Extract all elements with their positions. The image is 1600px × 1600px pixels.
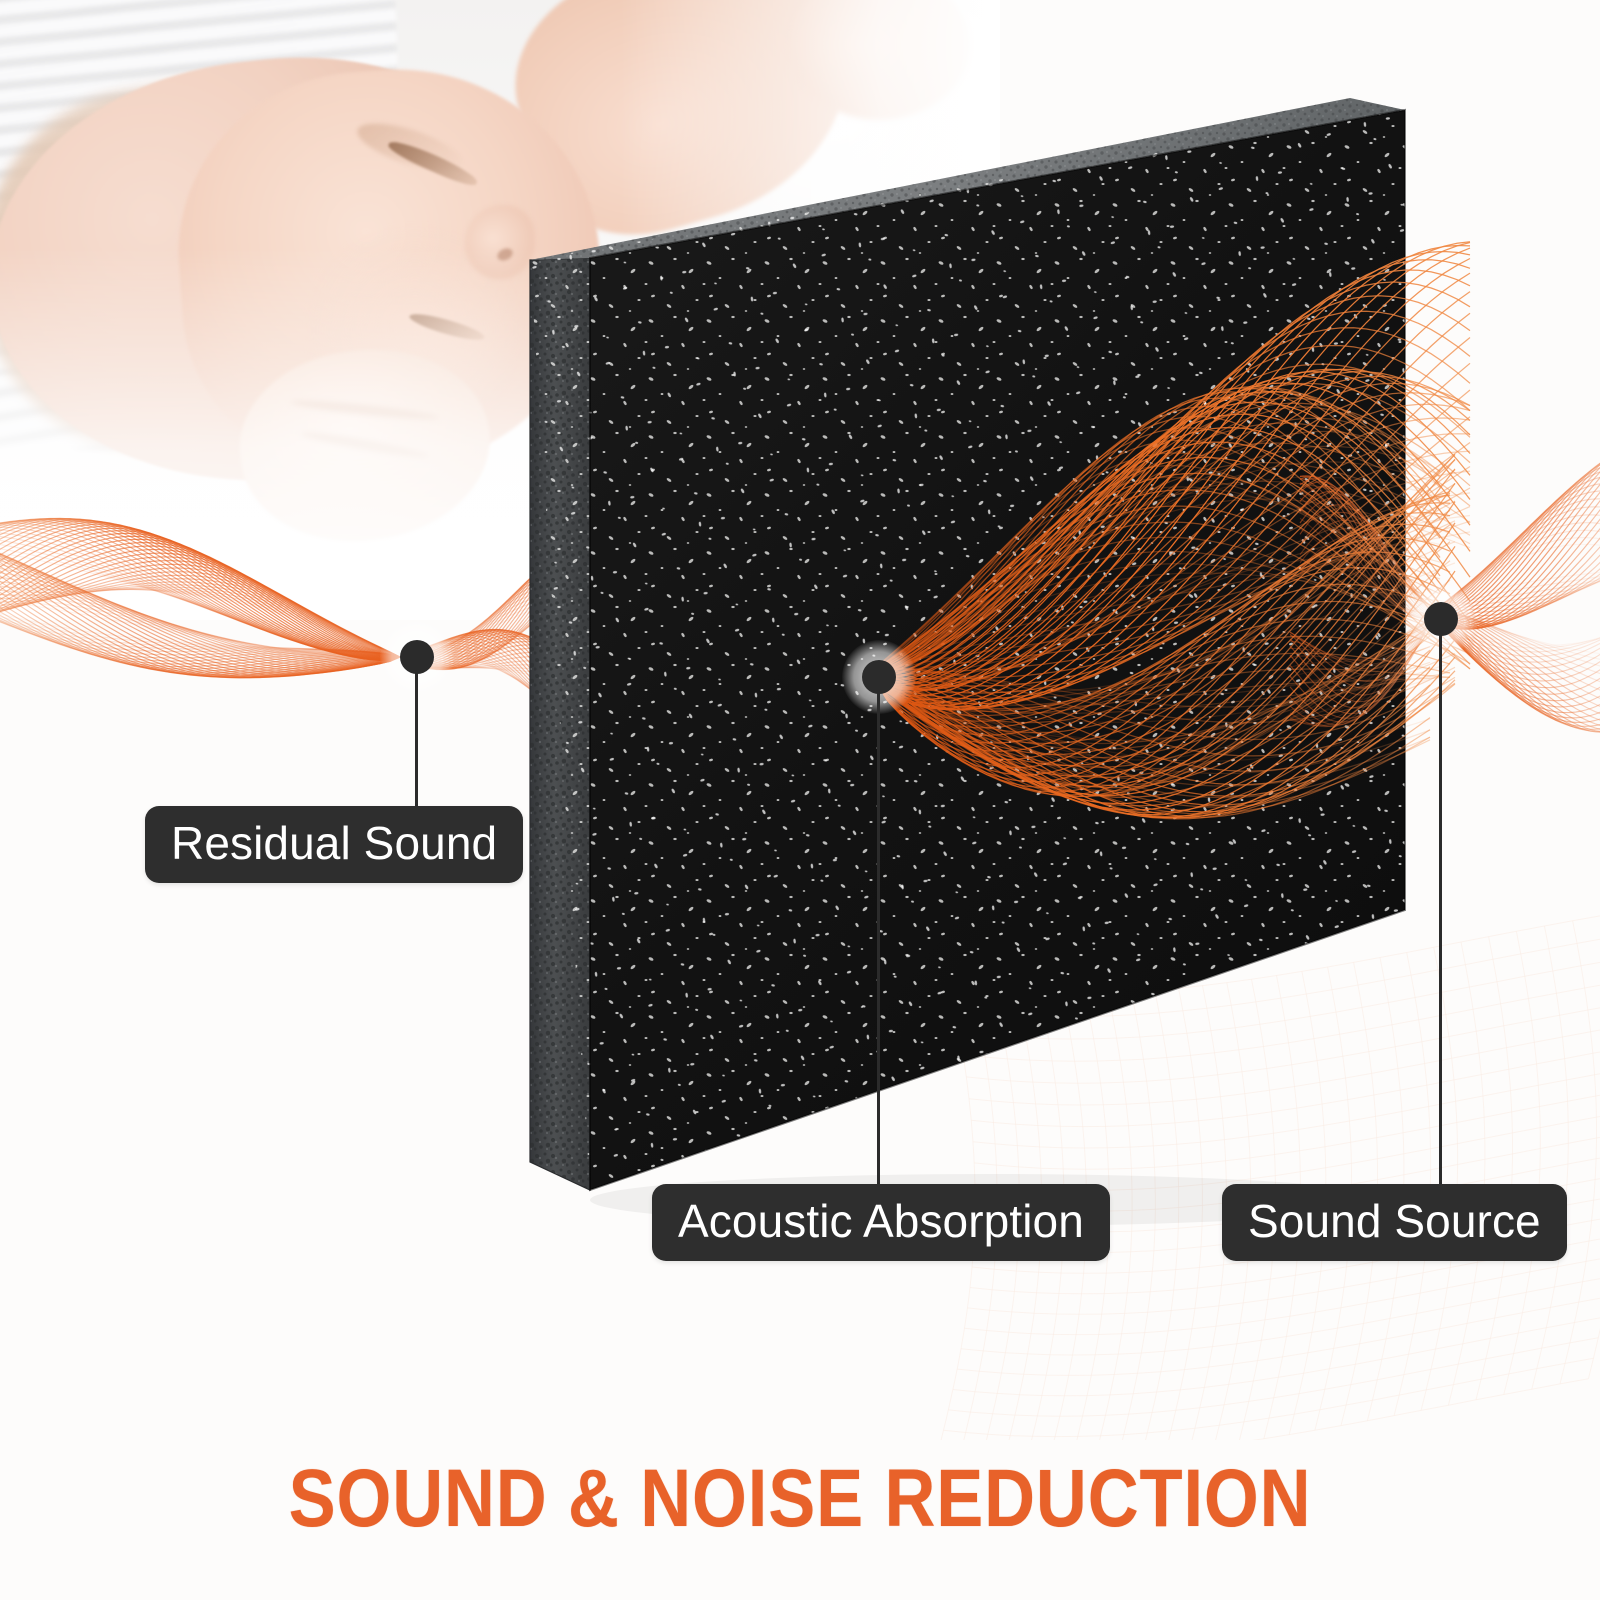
- sound-source-label[interactable]: Sound Source: [1222, 1184, 1567, 1261]
- acoustic-panel: [470, 80, 1450, 1240]
- infographic-canvas: Residual Sound Acoustic Absorption Sound…: [0, 0, 1600, 1600]
- sound-source-leader-line: [1439, 619, 1442, 1184]
- panel-geometry: [470, 80, 1450, 1240]
- residual-sound-label[interactable]: Residual Sound: [145, 806, 523, 883]
- page-title: SOUND & NOISE REDUCTION: [112, 1452, 1488, 1546]
- acoustic-absorption-label[interactable]: Acoustic Absorption: [652, 1184, 1110, 1261]
- residual-sound-leader-line: [415, 657, 418, 806]
- acoustic-absorption-leader-line: [877, 677, 880, 1184]
